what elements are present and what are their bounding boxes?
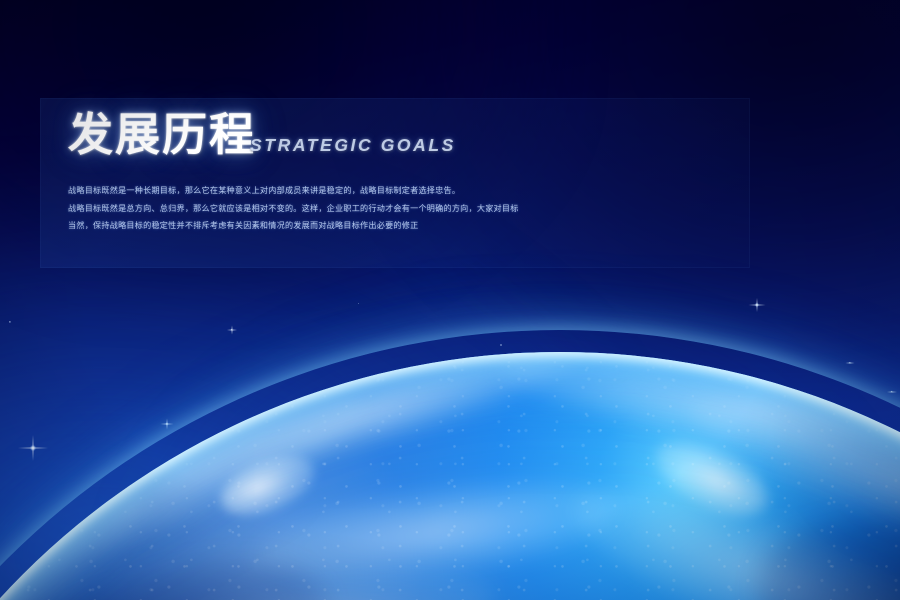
body-line: 战略目标既然是总方向、总归界，那么它就应该是相对不变的。这样，企业职工的行动才会… <box>68 200 768 218</box>
page-subtitle: STRATEGIC GOALS <box>250 137 456 155</box>
body-line: 战略目标既然是一种长期目标，那么它在某种意义上对内部成员来讲是稳定的，战略目标制… <box>68 182 768 200</box>
title-group: 发展历程 STRATEGIC GOALS <box>68 112 456 157</box>
page-title: 发展历程 <box>68 112 256 157</box>
body-paragraph: 战略目标既然是一种长期目标，那么它在某种意义上对内部成员来讲是稳定的，战略目标制… <box>68 182 768 235</box>
hero-banner: 发展历程 STRATEGIC GOALS 战略目标既然是一种长期目标，那么它在某… <box>0 0 900 600</box>
body-line: 当然，保持战略目标的稳定性并不排斥考虑有关因素和情况的发展而对战略目标作出必要的… <box>68 217 768 235</box>
content-panel: 发展历程 STRATEGIC GOALS 战略目标既然是一种长期目标，那么它在某… <box>40 98 750 268</box>
